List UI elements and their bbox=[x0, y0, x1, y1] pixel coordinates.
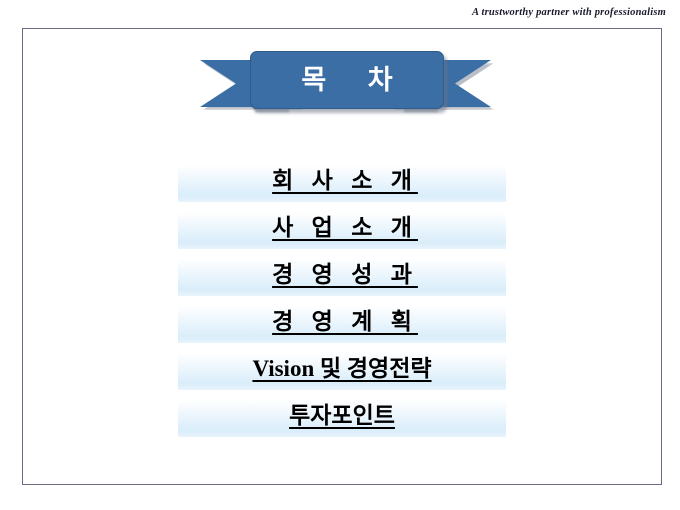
toc-item-label: 투자포인트 bbox=[289, 404, 395, 427]
toc-list: 회 사 소 개 사 업 소 개 경 영 성 과 경 영 계 획 Vision 및… bbox=[23, 157, 661, 439]
toc-item-business-intro[interactable]: 사 업 소 개 bbox=[178, 204, 506, 249]
toc-item-company-intro[interactable]: 회 사 소 개 bbox=[178, 157, 506, 202]
toc-item-vision-strategy[interactable]: Vision 및 경영전략 bbox=[178, 345, 506, 390]
slide-frame: 목 차 회 사 소 개 사 업 소 개 경 영 성 과 경 영 계 획 Visi… bbox=[22, 28, 662, 485]
banner-title: 목 차 bbox=[284, 67, 409, 94]
toc-item-investment-points[interactable]: 투자포인트 bbox=[178, 392, 506, 437]
toc-item-label: 회 사 소 개 bbox=[266, 169, 418, 192]
ribbon-center-panel: 목 차 bbox=[250, 51, 444, 109]
toc-item-label: Vision 및 경영전략 bbox=[252, 357, 431, 380]
toc-item-label: 경 영 계 획 bbox=[266, 310, 418, 333]
toc-item-label: 경 영 성 과 bbox=[266, 263, 418, 286]
toc-item-management-plan[interactable]: 경 영 계 획 bbox=[178, 298, 506, 343]
slide-tagline: A trustworthy partner with professionali… bbox=[472, 7, 666, 18]
ribbon-banner: 목 차 bbox=[178, 51, 513, 123]
toc-item-management-performance[interactable]: 경 영 성 과 bbox=[178, 251, 506, 296]
toc-item-label: 사 업 소 개 bbox=[266, 216, 418, 239]
